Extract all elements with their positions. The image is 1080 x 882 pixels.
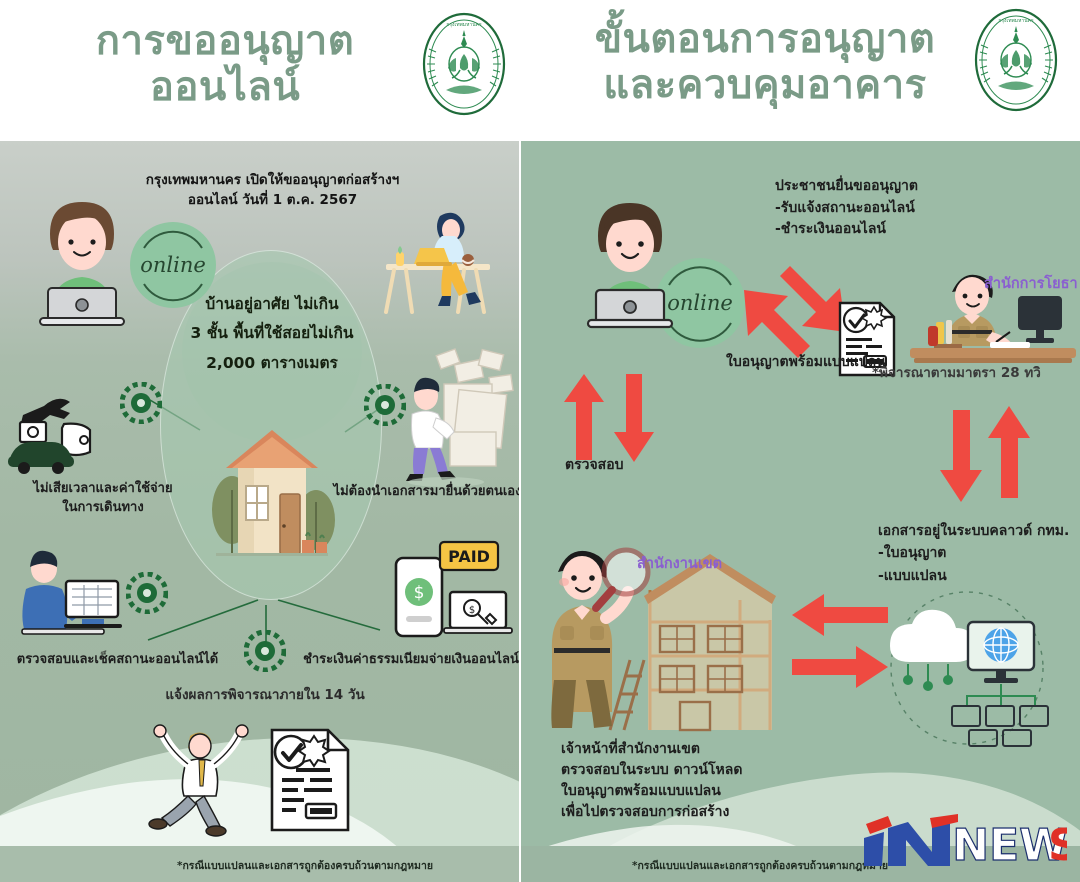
right-title: ขั้นตอนการอนุญาต และควบคุมอาคาร [565, 16, 965, 108]
svg-text:$: $ [469, 605, 475, 616]
person-with-laptop-illustration [22, 190, 142, 330]
benefit-label-travel: ไม่เสียเวลาและค่าใช้จ่าย ในการเดินทาง [8, 480, 198, 518]
bma-seal-logo-icon-right: กรุงเทพมหานคร [968, 4, 1064, 116]
benefit-travel-line2: ในการเดินทาง [8, 499, 198, 518]
arrow-up-icon [562, 372, 606, 462]
left-footnote: *กรณีแบบแปลนและเอกสารถูกต้องครบถ้วนตามกฎ… [140, 859, 470, 873]
benefit-travel-line1: ไม่เสียเวลาและค่าใช้จ่าย [8, 480, 198, 499]
in-news-watermark-logo: NEW S [862, 812, 1067, 872]
house-illustration [196, 390, 346, 580]
left-panel: การขออนุญาต ออนไลน์ กรุงเทพมหานคร กรุงเท… [0, 0, 519, 882]
left-title-line2: ออนไลน์ [40, 64, 410, 110]
gear-node-icon-1 [120, 382, 162, 424]
office-tag-yotha: สำนักการโยธา [984, 272, 1078, 295]
benefit-label-no-documents: ไม่ต้องนำเอกสารมายื่นด้วยตนเอง [330, 483, 519, 501]
cloud-network-illustration [872, 588, 1062, 748]
citizen-step-line2: -รับแจ้งสถานะออนไลน์ [775, 198, 1015, 220]
citizen-step-text: ประชาชนยื่นขออนุญาต -รับแจ้งสถานะออนไลน์… [775, 176, 1015, 241]
benefit-label-online-payment: ชำระเงินค่าธรรมเนียมจ่ายเงินออนไลน์ [300, 651, 519, 669]
right-title-line2: และควบคุมอาคาร [565, 62, 965, 108]
office-tag-district: สำนักงานเขต [637, 552, 722, 575]
monitor-icon [1018, 296, 1062, 330]
online-payment-illustration: $ PAID $ [388, 540, 518, 650]
arrow-up-left-icon [740, 282, 820, 362]
bubble-line-1: บ้านอยู่อาศัย ไม่เกิน [158, 290, 386, 319]
section-28-note: *พิจารณาตามมาตรา 28 ทวิ [872, 364, 1072, 382]
verify-label: ตรวจสอบ [565, 456, 685, 475]
cloud-step-line2: -ใบอนุญาต [878, 542, 1080, 564]
in-news-s-letter: S [1048, 820, 1067, 871]
svg-text:$: $ [414, 583, 425, 603]
benefit-label-online-status: ตรวจสอบและเช็คสถานะออนไลน์ได้ [5, 651, 230, 669]
gear-node-icon-2 [364, 384, 406, 426]
bma-seal-logo-icon: กรุงเทพมหานคร [416, 8, 512, 120]
arrow-up-icon-2 [986, 404, 1032, 500]
bubble-line-2: 3 ชั้น พื้นที่ใช้สอยไม่เกิน [158, 319, 386, 348]
citizen-with-laptop-illustration [570, 190, 690, 335]
person-carrying-documents-illustration [398, 348, 516, 488]
result-notice-label: แจ้งผลการพิจารณาภายใน 14 วัน [120, 686, 410, 704]
svg-text:กรุงเทพมหานคร: กรุงเทพมหานคร [446, 22, 482, 28]
svg-text:PAID: PAID [448, 547, 490, 566]
bubble-line-3: 2,000 ตารางเมตร [158, 349, 386, 378]
gear-node-icon-3 [126, 572, 168, 614]
bubble-condition-text: บ้านอยู่อาศัย ไม่เกิน 3 ชั้น พื้นที่ใช้ส… [158, 290, 386, 378]
panel-divider [519, 141, 521, 882]
person-checking-status-illustration [10, 545, 130, 650]
woman-at-desk-illustration [372, 196, 504, 321]
left-subtitle-line2: ออนไลน์ วันที่ 1 ต.ค. 2567 [130, 190, 415, 210]
gear-node-icon-4 [244, 630, 286, 672]
left-title-line1: การขออนุญาต [40, 18, 410, 64]
cloud-step-line1: เอกสารอยู่ในระบบคลาวด์ กทม. [878, 520, 1080, 542]
district-step-line2: ตรวจสอบในระบบ ดาวน์โหลด [561, 760, 836, 781]
district-step-line4: เพื่อไปตรวจสอบการก่อสร้าง [561, 802, 836, 823]
left-subtitle: กรุงเทพมหานคร เปิดให้ขออนุญาตก่อสร้างฯ อ… [130, 170, 415, 211]
approved-document-icon [266, 726, 352, 834]
district-step-text: เจ้าหน้าที่สำนักงานเขต ตรวจสอบในระบบ ดาว… [561, 739, 836, 823]
celebrating-person-illustration [140, 718, 260, 840]
district-step-line3: ใบอนุญาตพร้อมแบบแปลน [561, 781, 836, 802]
infographic-poster: การขออนุญาต ออนไลน์ กรุงเทพมหานคร กรุงเท… [0, 0, 1080, 882]
cloud-step-text: เอกสารอยู่ในระบบคลาวด์ กทม. -ใบอนุญาต -แ… [878, 520, 1080, 587]
left-title: การขออนุญาต ออนไลน์ [40, 18, 410, 110]
left-subtitle-line1: กรุงเทพมหานคร เปิดให้ขออนุญาตก่อสร้างฯ [130, 170, 415, 190]
cloud-step-line3: -แบบแปลน [878, 565, 1080, 587]
citizen-step-line1: ประชาชนยื่นขออนุญาต [775, 176, 1015, 198]
right-title-line1: ขั้นตอนการอนุญาต [565, 16, 965, 62]
arrow-down-icon-2 [938, 408, 984, 504]
laptop-icon [450, 592, 506, 628]
citizen-step-line3: -ชำระเงินออนไลน์ [775, 219, 1015, 241]
district-step-line1: เจ้าหน้าที่สำนักงานเขต [561, 739, 836, 760]
arrow-down-icon [612, 372, 656, 464]
banknote-icon [20, 422, 46, 442]
svg-text:กรุงเทพมหานคร: กรุงเทพมหานคร [998, 18, 1034, 24]
cloud-icon [890, 610, 974, 662]
